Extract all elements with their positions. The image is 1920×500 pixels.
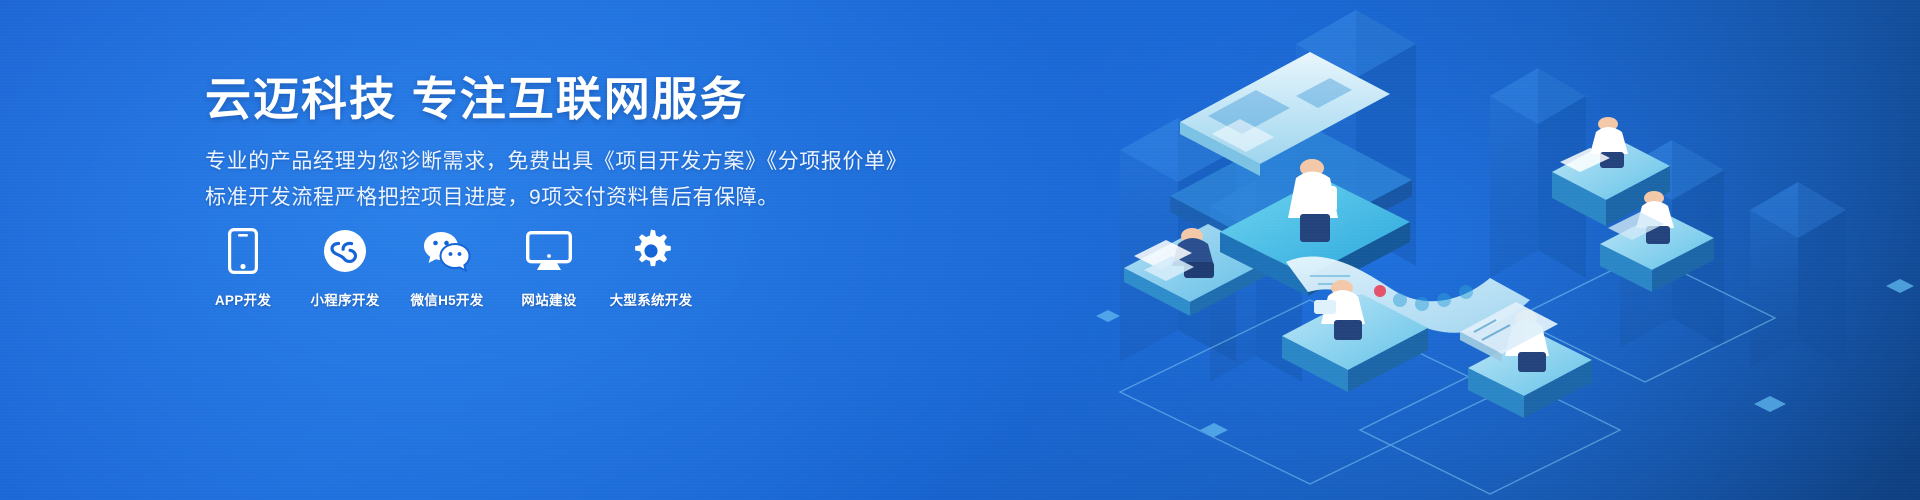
service-list: APP开发 小程序开发	[205, 228, 689, 309]
isometric-illustration	[1060, 0, 1920, 500]
service-label: 网站建设	[521, 289, 576, 309]
hero-banner: 云迈科技 专注互联网服务 专业的产品经理为您诊断需求，免费出具《项目开发方案》《…	[0, 0, 1920, 500]
banner-subtitle: 专业的产品经理为您诊断需求，免费出具《项目开发方案》《分项报价单》 标准开发流程…	[205, 144, 905, 216]
service-label: 大型系统开发	[610, 289, 693, 309]
subtitle-line-2: 标准开发流程严格把控项目进度，9项交付资料售后有保障。	[205, 180, 905, 216]
service-item-wechat-h5[interactable]: 微信H5开发	[409, 228, 485, 309]
banner-content: 云迈科技 专注互联网服务 专业的产品经理为您诊断需求，免费出具《项目开发方案》《…	[205, 72, 905, 216]
page-title: 云迈科技 专注互联网服务	[205, 72, 905, 126]
service-item-app[interactable]: APP开发	[205, 228, 281, 309]
mobile-phone-icon	[228, 228, 258, 274]
wechat-icon	[423, 228, 471, 274]
service-label: 小程序开发	[311, 289, 380, 309]
monitor-icon	[526, 228, 572, 274]
gear-icon	[629, 228, 673, 274]
service-item-large-system[interactable]: 大型系统开发	[613, 228, 689, 309]
subtitle-line-1: 专业的产品经理为您诊断需求，免费出具《项目开发方案》《分项报价单》	[205, 144, 905, 180]
service-label: 微信H5开发	[410, 289, 483, 309]
mini-program-icon	[323, 228, 367, 274]
service-item-website[interactable]: 网站建设	[511, 228, 587, 309]
service-item-mini-program[interactable]: 小程序开发	[307, 228, 383, 309]
service-label: APP开发	[215, 289, 271, 309]
